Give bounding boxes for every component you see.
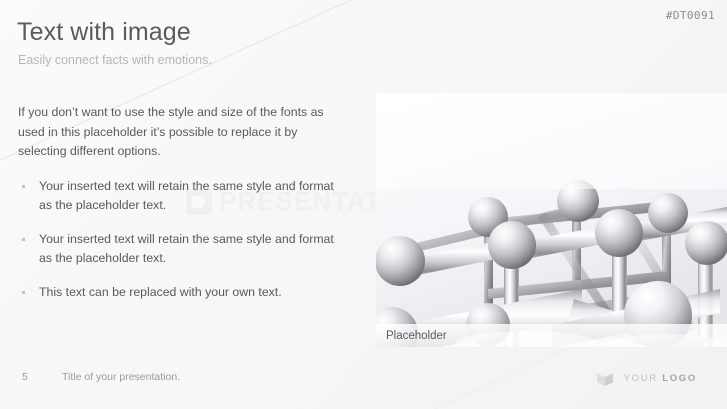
document-code: #DT0091	[666, 9, 715, 22]
intro-paragraph: If you don’t want to use the style and s…	[18, 103, 334, 162]
bullet-list: Your inserted text will retain the same …	[18, 177, 334, 303]
footer-title: Title of your presentation.	[62, 371, 180, 383]
image-caption-bar: Placeholder	[376, 324, 727, 347]
list-item: Your inserted text will retain the same …	[18, 177, 334, 216]
logo: YOUR LOGO	[595, 368, 697, 388]
list-item-label: Your inserted text will retain the same …	[39, 179, 334, 213]
list-item-label: Your inserted text will retain the same …	[39, 232, 334, 266]
image-placeholder[interactable]: Placeholder	[376, 93, 727, 347]
page-title: Text with image	[17, 18, 191, 47]
list-item: This text can be replaced with your own …	[18, 283, 334, 303]
list-item: Your inserted text will retain the same …	[18, 230, 334, 269]
cube-icon	[595, 368, 615, 388]
logo-text-light: YOUR	[624, 373, 663, 384]
logo-text-bold: LOGO	[662, 373, 697, 384]
logo-text: YOUR LOGO	[624, 373, 697, 384]
text-column: If you don’t want to use the style and s…	[18, 91, 334, 302]
page-subtitle: Easily connect facts with emotions.	[18, 53, 212, 67]
list-item-label: This text can be replaced with your own …	[39, 285, 282, 299]
slide: PRESENTATIONLOAD #DT0091 Text with image…	[0, 0, 727, 409]
lattice-photo	[376, 93, 727, 347]
bullet-square-icon	[22, 238, 25, 241]
image-caption-label: Placeholder	[386, 330, 447, 342]
bullet-square-icon	[22, 185, 25, 188]
bullet-square-icon	[22, 291, 25, 294]
page-number: 5	[22, 371, 28, 383]
footer-divider	[0, 356, 727, 357]
